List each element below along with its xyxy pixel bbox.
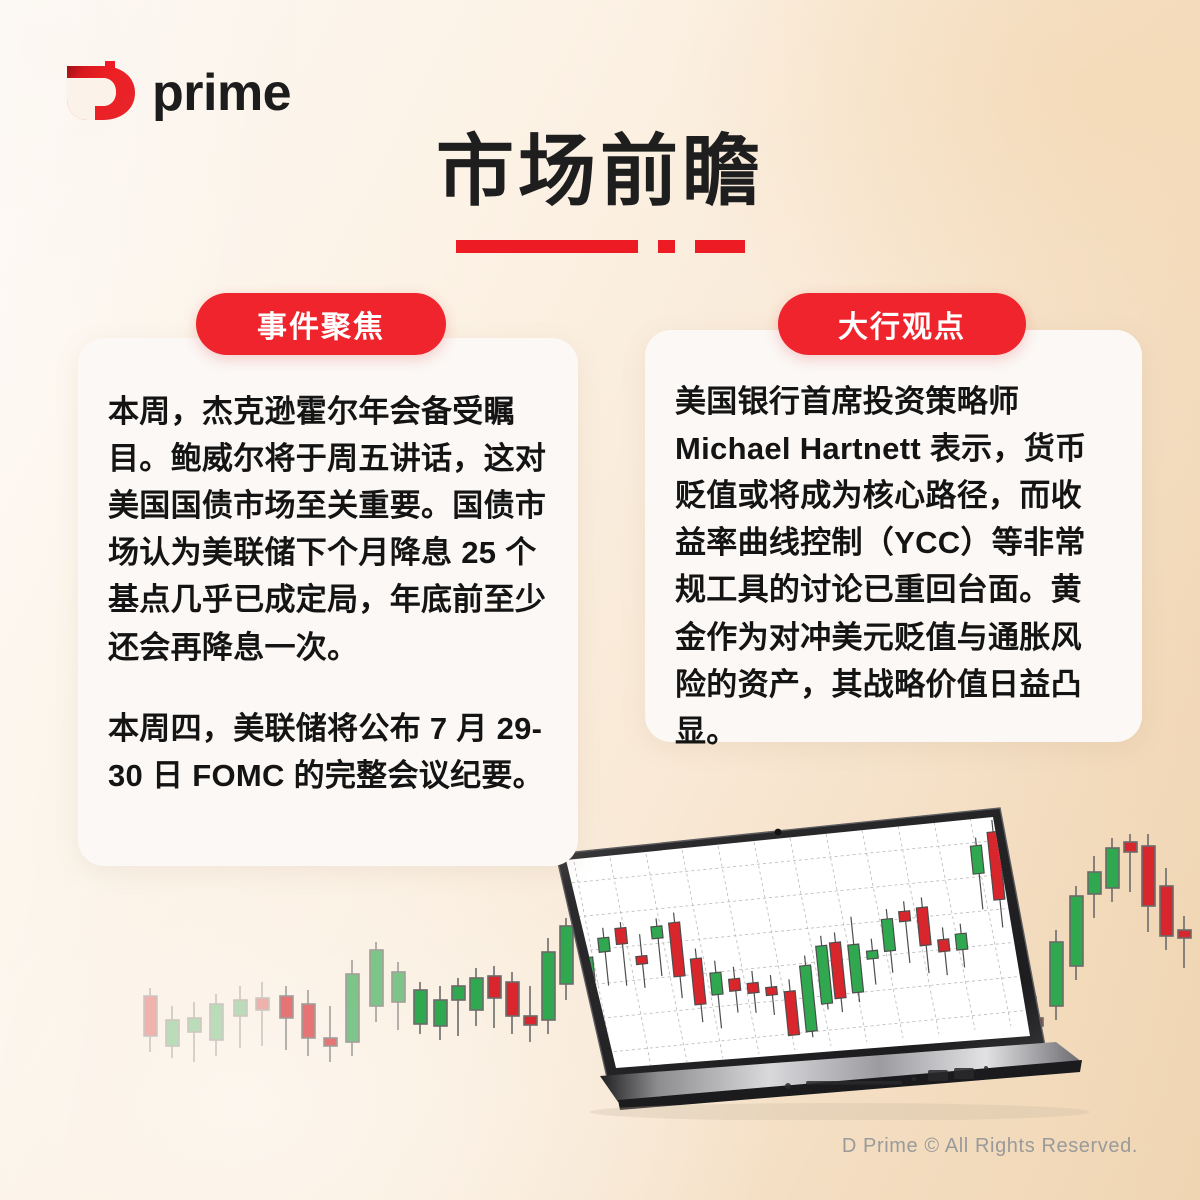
brand-logo: prime (62, 56, 291, 130)
title-block: 市场前瞻 (0, 132, 1200, 253)
d-logo-mark-icon (62, 56, 138, 130)
logo-i-dot-icon (105, 61, 115, 71)
card-event-focus: 本周，杰克逊霍尔年会备受瞩目。鲍威尔将于周五讲话，这对美国国债市场至关重要。国债… (78, 338, 578, 866)
page-title: 市场前瞻 (0, 132, 1200, 210)
badge-label: 事件聚焦 (257, 302, 385, 346)
rule-segment-long (456, 240, 638, 253)
card-event-focus-body: 本周，杰克逊霍尔年会备受瞩目。鲍威尔将于周五讲话，这对美国国债市场至关重要。国债… (78, 388, 578, 799)
copyright-footer: D Prime © All Rights Reserved. (842, 1135, 1138, 1158)
paragraph: 本周，杰克逊霍尔年会备受瞩目。鲍威尔将于周五讲话，这对美国国债市场至关重要。国债… (108, 388, 548, 671)
logo-wordmark: prime (152, 67, 291, 119)
badge-event-focus: 事件聚焦 (196, 293, 446, 355)
title-underline-decoration (0, 240, 1200, 253)
card-bank-views-body: 美国银行首席投资策略师 Michael Hartnett 表示，货币贬值或将成为… (645, 378, 1142, 755)
poster-canvas: prime 市场前瞻 本周，杰克逊霍尔年会备受瞩目。鲍威尔将于周五讲话，这对美国… (0, 0, 1200, 1200)
badge-label: 大行观点 (838, 302, 966, 346)
card-bank-views: 美国银行首席投资策略师 Michael Hartnett 表示，货币贬值或将成为… (645, 330, 1142, 742)
rule-segment-dot (658, 240, 675, 253)
rule-segment-mid (695, 240, 745, 253)
paragraph: 美国银行首席投资策略师 Michael Hartnett 表示，货币贬值或将成为… (675, 378, 1112, 755)
paragraph: 本周四，美联储将公布 7 月 29-30 日 FOMC 的完整会议纪要。 (108, 705, 548, 799)
badge-bank-views: 大行观点 (778, 293, 1026, 355)
